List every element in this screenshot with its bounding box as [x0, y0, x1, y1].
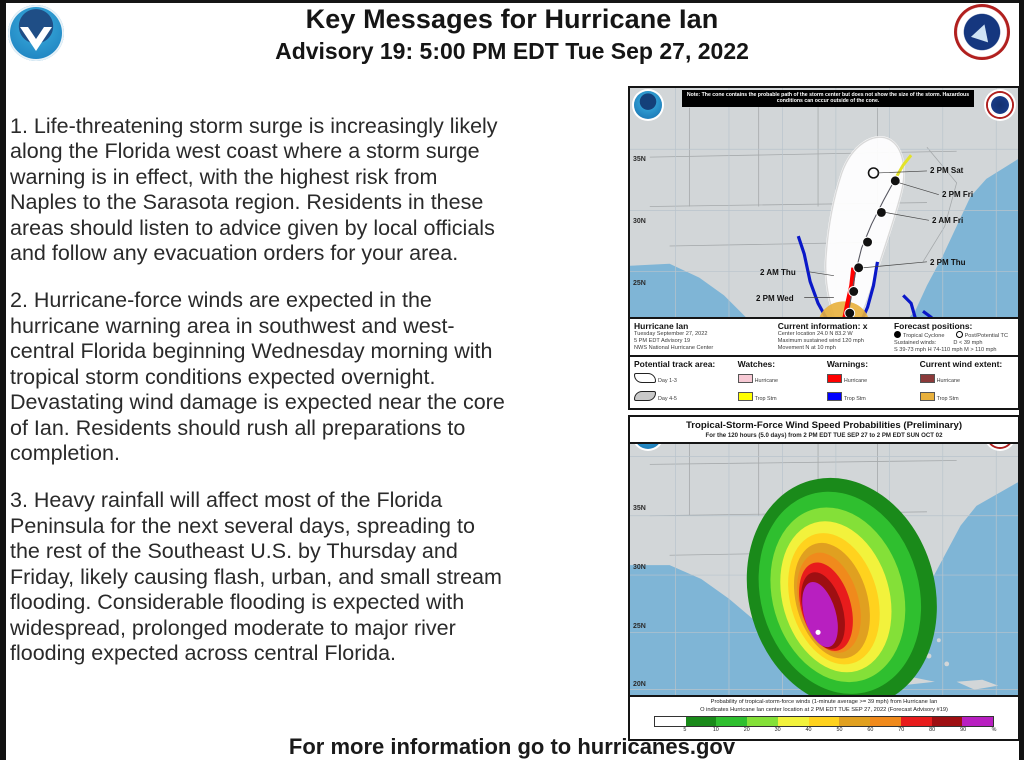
- probability-colorbar: [654, 716, 994, 727]
- movement: Movement N at 10 mph: [778, 345, 888, 352]
- colorbar-tick-80: 80: [929, 727, 935, 733]
- probability-map-header: Tropical-Storm-Force Wind Speed Probabil…: [630, 417, 1018, 444]
- watch-hurricane-label: Hurricane: [755, 378, 778, 384]
- warn-tropstm-label: Trop Stm: [844, 396, 866, 402]
- nws-logo: [954, 4, 1010, 60]
- colorbar-segment-6: [839, 717, 870, 726]
- probability-map-graphic: [630, 417, 1018, 739]
- prob-lat-label-30n: 30N: [633, 564, 646, 571]
- cone-track-label-am-fri: 2 AM Fri: [932, 216, 963, 225]
- colorbar-tick-40: 40: [806, 727, 812, 733]
- watch-tropstm-swatch: [738, 392, 753, 401]
- cone-map-legend: Hurricane Ian Tuesday September 27, 2022…: [630, 317, 1018, 408]
- colorbar-segment-8: [901, 717, 932, 726]
- wind-extent-heading: Current wind extent:: [920, 359, 1008, 369]
- probability-caption-line1: Probability of tropical-storm-force wind…: [630, 699, 1018, 706]
- track-day13-chip: Day 1-3: [634, 373, 677, 384]
- forecast-positions-heading: Forecast positions:: [894, 321, 1008, 331]
- cone-legend-info-row: Hurricane Ian Tuesday September 27, 2022…: [630, 319, 1018, 357]
- potential-track-area-chips: Day 1-3 Day 4-5: [634, 369, 732, 405]
- colorbar-tick-20: 20: [744, 727, 750, 733]
- colorbar-segment-1: [686, 717, 717, 726]
- extent-tropstm-chip: Trop Stm: [920, 392, 959, 402]
- track-day45-label: Day 4-5: [658, 396, 677, 402]
- key-message-3: 3. Heavy rainfall will affect most of th…: [10, 488, 510, 667]
- page-title: Key Messages for Hurricane Ian: [0, 4, 1024, 35]
- storm-name: Hurricane Ian: [634, 321, 772, 331]
- colorbar-segment-0: [655, 717, 686, 726]
- cone-legend-current-block: Current information: x Center location 2…: [778, 321, 894, 354]
- colorbar-tick-10: 10: [713, 727, 719, 733]
- track-day13-label: Day 1-3: [658, 378, 677, 384]
- probability-caption-line2: O indicates Hurricane Ian center locatio…: [630, 707, 1018, 714]
- cone-note-banner: Note: The cone contains the probable pat…: [682, 90, 974, 107]
- probability-colorbar-ticks: 5102030405060708090%: [654, 727, 994, 736]
- probability-map-subtitle: For the 120 hours (5.0 days) from 2 PM E…: [630, 432, 1018, 439]
- cone-day45-icon: [634, 391, 656, 401]
- cone-legend-forecast-block: Forecast positions: Tropical Cyclone Pos…: [894, 321, 1014, 354]
- cone-track-label-pm-wed: 2 PM Wed: [756, 294, 794, 303]
- colorbar-segment-10: [962, 717, 993, 726]
- extent-hurricane-chip: Hurricane: [920, 374, 960, 384]
- tropical-cyclone-icon: [894, 331, 901, 338]
- sustained-winds-label: Sustained winds:: [894, 340, 936, 346]
- post-potential-tc-label: Post/Potential TC: [965, 333, 1008, 339]
- warnings-chips: Hurricane Trop Stm: [827, 369, 914, 405]
- key-messages-list: 1. Life-threatening storm surge is incre…: [10, 92, 510, 667]
- extent-tropstm-label: Trop Stm: [937, 396, 959, 402]
- watch-tropstm-chip: Trop Stm: [738, 392, 777, 402]
- colorbar-tick-50: 50: [836, 727, 842, 733]
- probability-map-footer: Probability of tropical-storm-force wind…: [630, 695, 1018, 739]
- warn-hurricane-swatch: [827, 374, 842, 383]
- warn-hurricane-label: Hurricane: [844, 378, 867, 384]
- colorbar-segment-9: [932, 717, 963, 726]
- potential-track-area-block: Potential track area: Day 1-3 Day 4-5: [634, 359, 738, 405]
- colorbar-tick-30: 30: [775, 727, 781, 733]
- current-information-heading: Current information: x: [778, 321, 888, 331]
- warnings-block: Warnings: Hurricane Trop Stm: [827, 359, 920, 405]
- extent-hurricane-label: Hurricane: [937, 378, 960, 384]
- probability-colorbar-wrap: 5102030405060708090%: [654, 716, 994, 736]
- watch-tropstm-label: Trop Stm: [755, 396, 777, 402]
- cone-lat-label-25n: 25N: [633, 280, 646, 287]
- colorbar-segment-3: [747, 717, 778, 726]
- wind-extent-chips: Hurricane Trop Stm: [920, 369, 1008, 405]
- storm-advisory: 5 PM EDT Advisory 19: [634, 338, 772, 345]
- max-sustained-wind: Maximum sustained wind 120 mph: [778, 338, 888, 345]
- key-message-1: 1. Life-threatening storm surge is incre…: [10, 114, 510, 267]
- wind-extent-block: Current wind extent: Hurricane Trop Stm: [920, 359, 1014, 405]
- tropical-cyclone-label: Tropical Cyclone: [903, 333, 944, 339]
- cone-track-label-am-thu: 2 AM Thu: [760, 268, 796, 277]
- colorbar-segment-5: [809, 717, 840, 726]
- cone-legend-symbol-row: Potential track area: Day 1-3 Day 4-5 Wa…: [630, 357, 1018, 408]
- post-potential-tc-icon: [956, 331, 963, 338]
- warn-hurricane-chip: Hurricane: [827, 374, 867, 384]
- slide: Key Messages for Hurricane Ian Advisory …: [0, 0, 1024, 760]
- page-subtitle: Advisory 19: 5:00 PM EDT Tue Sep 27, 202…: [0, 38, 1024, 65]
- cone-track-label-sat: 2 PM Sat: [930, 166, 963, 175]
- header: Key Messages for Hurricane Ian Advisory …: [0, 0, 1024, 80]
- colorbar-tick-60: 60: [867, 727, 873, 733]
- forecast-symbols-row: Tropical Cyclone Post/Potential TC: [894, 331, 1008, 340]
- storm-agency: NWS National Hurricane Center: [634, 345, 772, 352]
- potential-track-area-heading: Potential track area:: [634, 359, 732, 369]
- colorbar-tick-90: 90: [960, 727, 966, 733]
- cone-lat-label-30n: 30N: [633, 218, 646, 225]
- extent-hurricane-swatch: [920, 374, 935, 383]
- track-day45-chip: Day 4-5: [634, 391, 677, 402]
- wind-probability-map[interactable]: Tropical-Storm-Force Wind Speed Probabil…: [628, 415, 1020, 741]
- prob-lat-label-20n: 20N: [633, 681, 646, 688]
- colorbar-segment-4: [778, 717, 809, 726]
- watches-heading: Watches:: [738, 359, 821, 369]
- storm-date: Tuesday September 27, 2022: [634, 331, 772, 338]
- watches-block: Watches: Hurricane Trop Stm: [738, 359, 827, 405]
- warn-tropstm-swatch: [827, 392, 842, 401]
- center-location: Center location 24.0 N 83.2 W: [778, 331, 888, 338]
- nws-logo-small-cone: [986, 91, 1014, 119]
- cone-lat-label-35n: 35N: [633, 156, 646, 163]
- colorbar-tick-70: 70: [898, 727, 904, 733]
- forecast-cone-map[interactable]: Note: The cone contains the probable pat…: [628, 86, 1020, 410]
- cone-track-label-pm-thu: 2 PM Thu: [930, 258, 966, 267]
- colorbar-tick-5: 5: [683, 727, 686, 733]
- sustained-winds-d: D < 39 mph: [953, 340, 982, 346]
- cone-legend-storm-block: Hurricane Ian Tuesday September 27, 2022…: [634, 321, 778, 354]
- prob-lat-label-25n: 25N: [633, 623, 646, 630]
- colorbar-segment-2: [716, 717, 747, 726]
- probability-map-title: Tropical-Storm-Force Wind Speed Probabil…: [630, 420, 1018, 431]
- nws-logo-inner: [965, 15, 999, 49]
- warnings-heading: Warnings:: [827, 359, 914, 369]
- sustained-winds-scale: S 39-73 mph H 74-110 mph M > 110 mph: [894, 347, 1008, 354]
- sustained-winds-row: Sustained winds: D < 39 mph: [894, 340, 1008, 347]
- nws-triangle-icon: [971, 22, 993, 43]
- cone-day13-icon: [634, 373, 656, 383]
- colorbar-segment-7: [870, 717, 901, 726]
- colorbar-tick-%: %: [992, 727, 997, 733]
- prob-lat-label-35n: 35N: [633, 505, 646, 512]
- watch-hurricane-swatch: [738, 374, 753, 383]
- key-message-2: 2. Hurricane-force winds are expected in…: [10, 288, 510, 467]
- slide-edge-left: [0, 0, 6, 760]
- cone-track-label-pm-fri: 2 PM Fri: [942, 190, 973, 199]
- extent-tropstm-swatch: [920, 392, 935, 401]
- noaa-logo-small-cone: [634, 91, 662, 119]
- warn-tropstm-chip: Trop Stm: [827, 392, 866, 402]
- watch-hurricane-chip: Hurricane: [738, 374, 778, 384]
- watches-chips: Hurricane Trop Stm: [738, 369, 821, 405]
